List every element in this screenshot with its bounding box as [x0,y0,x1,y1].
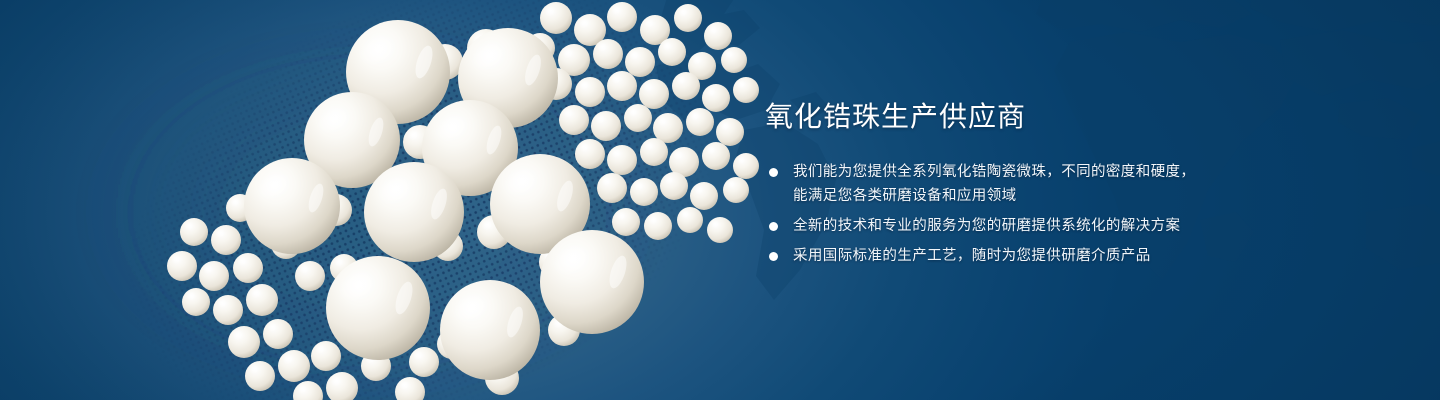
hero-banner: 氧化锆珠生产供应商 我们能为您提供全系列氧化锆陶瓷微珠，不同的密度和硬度， 能满… [0,0,1440,400]
list-item: 我们能为您提供全系列氧化锆陶瓷微珠，不同的密度和硬度， 能满足您各类研磨设备和应… [765,160,1365,208]
bullet-line-2: 能满足您各类研磨设备和应用领域 [793,184,1365,208]
page-title: 氧化锆珠生产供应商 [765,100,1365,134]
bullet-dot-icon [769,168,778,177]
feature-bullet-list: 我们能为您提供全系列氧化锆陶瓷微珠，不同的密度和硬度， 能满足您各类研磨设备和应… [765,160,1365,268]
banner-text-block: 氧化锆珠生产供应商 我们能为您提供全系列氧化锆陶瓷微珠，不同的密度和硬度， 能满… [765,100,1365,268]
bullet-line-1: 采用国际标准的生产工艺，随时为您提供研磨介质产品 [793,248,1151,264]
bullet-line-1: 全新的技术和专业的服务为您的研磨提供系统化的解决方案 [793,218,1180,234]
list-item: 全新的技术和专业的服务为您的研磨提供系统化的解决方案 [765,214,1365,238]
bullet-dot-icon [769,252,778,261]
bullet-dot-icon [769,222,778,231]
list-item: 采用国际标准的生产工艺，随时为您提供研磨介质产品 [765,244,1365,268]
bullet-line-1: 我们能为您提供全系列氧化锆陶瓷微珠，不同的密度和硬度， [793,164,1195,180]
